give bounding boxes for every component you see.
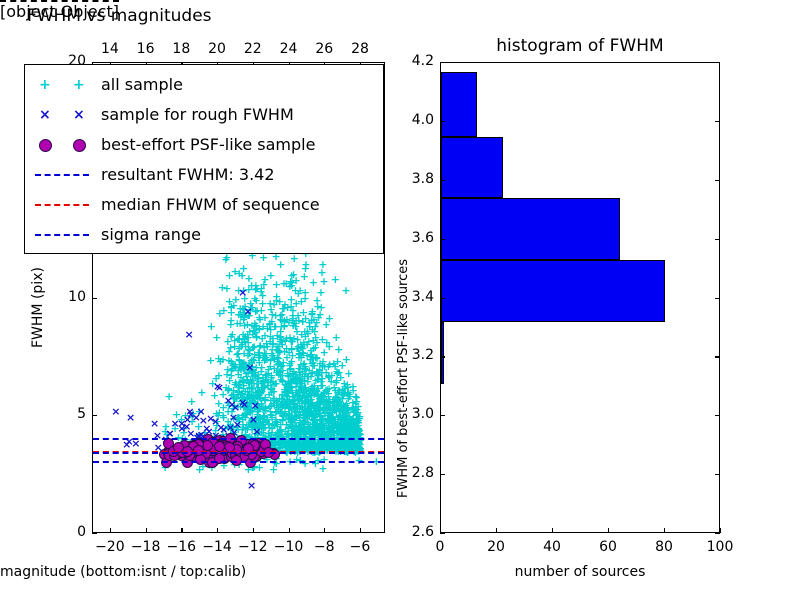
x-tick-label: −14 (199, 539, 235, 555)
scatter-point-rough: × (150, 418, 159, 429)
legend-plus-icon: + (39, 78, 51, 92)
scatter-point-all: + (266, 270, 275, 281)
scatter-point-all: + (267, 316, 276, 327)
right-x-tick-label: 60 (588, 539, 628, 555)
scatter-point-all: + (325, 359, 334, 370)
x-tick-label: −6 (342, 539, 378, 555)
scatter-point-all: + (279, 357, 288, 368)
right-x-tick-mark (664, 528, 665, 533)
left-x-axis-label: magnitude (bottom:isnt / top:calib) (0, 564, 239, 580)
scatter-point-all: + (301, 384, 310, 395)
right-y-tick-mark-right (715, 239, 720, 240)
scatter-point-all: + (276, 259, 285, 270)
scatter-point-all: + (349, 385, 358, 396)
scatter-point-all: + (282, 380, 291, 391)
scatter-point-all: + (332, 396, 341, 407)
scatter-point-all: + (319, 276, 328, 287)
legend-item-4[interactable]: median FHWM of sequence (25, 193, 383, 219)
scatter-point-all: + (214, 398, 223, 409)
top-x-tick-label: 28 (342, 41, 378, 57)
legend-dashed-line-icon (35, 204, 89, 206)
x-tick-mark (360, 528, 361, 533)
x-tick-mark (253, 528, 254, 533)
scatter-point-all: + (318, 463, 327, 474)
histogram-bar (441, 137, 503, 199)
legend-item-label: sample for rough FWHM (101, 105, 294, 124)
scatter-point-all: + (332, 332, 341, 343)
legend-item-2[interactable]: best-effort PSF-like sample (25, 133, 383, 159)
scatter-point-all: + (341, 408, 350, 419)
y-tick-mark (92, 62, 97, 63)
scatter-point-all: + (297, 352, 306, 363)
scatter-point-rough: × (247, 480, 256, 491)
right-y-tick-label: 2.6 (392, 524, 434, 540)
scatter-point-all: + (341, 285, 350, 296)
scatter-point-all: + (307, 400, 316, 411)
histogram-bar (441, 72, 477, 137)
right-x-tick-label: 40 (532, 539, 572, 555)
y-tick-label: 0 (48, 524, 86, 540)
legend-dashed-line-icon (35, 174, 89, 176)
scatter-point-rough: × (126, 412, 135, 423)
top-x-tick-label: 26 (306, 41, 342, 57)
right-y-tick-mark-right (715, 415, 720, 416)
scatter-point-all: + (282, 314, 291, 325)
x-tick-label: −10 (271, 539, 307, 555)
right-panel-title: histogram of FWHM (440, 36, 720, 56)
right-x-tick-label: 0 (420, 539, 460, 555)
right-y-tick-mark (440, 62, 445, 63)
top-x-tick-label: 20 (199, 41, 235, 57)
right-y-tick-mark (440, 180, 445, 181)
histogram-bar (441, 198, 620, 260)
scatter-point-all: + (299, 339, 308, 350)
scatter-point-all: + (268, 344, 277, 355)
scatter-point-all: + (222, 369, 231, 380)
x-tick-mark (110, 528, 111, 533)
scatter-point-all: + (221, 254, 230, 265)
right-y-tick-mark-right (715, 298, 720, 299)
scatter-point-all: + (278, 339, 287, 350)
right-x-tick-label: 80 (644, 539, 684, 555)
legend-item-1[interactable]: ××sample for rough FWHM (25, 103, 383, 129)
scatter-point-all: + (197, 387, 206, 398)
right-x-tick-label: 100 (700, 539, 740, 555)
top-x-tick-label: 16 (128, 41, 164, 57)
scatter-point-all: + (225, 346, 234, 357)
scatter-point-all: + (341, 419, 350, 430)
scatter-point-rough: × (177, 423, 186, 434)
scatter-point-all: + (258, 290, 267, 301)
legend-item-0[interactable]: ++all sample (25, 73, 383, 99)
legend-item-label: all sample (101, 75, 183, 94)
x-tick-mark (217, 528, 218, 533)
sigma-lower-line (93, 461, 384, 463)
x-tick-label: −8 (306, 539, 342, 555)
scatter-point-rough: × (238, 287, 247, 298)
scatter-point-all: + (301, 259, 310, 270)
legend-circle-icon (39, 139, 52, 152)
scatter-point-all: + (350, 418, 359, 429)
right-y-tick-mark (440, 415, 445, 416)
x-tick-mark (181, 528, 182, 533)
scatter-point-all: + (287, 270, 296, 281)
scatter-point-all: + (317, 376, 326, 387)
right-y-tick-mark (440, 474, 445, 475)
right-plot-area (440, 62, 720, 533)
top-x-tick-label: 18 (163, 41, 199, 57)
right-y-tick-mark (440, 356, 445, 357)
scatter-point-rough: × (251, 400, 260, 411)
right-y-tick-mark (440, 239, 445, 240)
legend-box: ++all sample××sample for rough FWHMbest-… (24, 64, 384, 254)
histogram-bar (441, 322, 444, 384)
y-tick-label: 5 (48, 406, 86, 422)
right-y-tick-mark (440, 533, 445, 534)
right-y-tick-mark-right (715, 121, 720, 122)
right-x-axis-label: number of sources (440, 564, 720, 580)
right-y-tick-mark-right (715, 180, 720, 181)
scatter-point-rough: × (215, 382, 224, 393)
legend-plus-icon: + (73, 78, 85, 92)
scatter-point-all: + (235, 333, 244, 344)
resultant-fwhm-line (93, 452, 384, 454)
x-tick-label: −18 (128, 539, 164, 555)
legend-item-5[interactable]: sigma range (25, 223, 383, 249)
scatter-point-all: + (260, 403, 269, 414)
scatter-point-all: + (331, 274, 340, 285)
legend-dashdot-line-icon (35, 234, 89, 236)
legend-item-3[interactable]: resultant FWHM: 3.42 (25, 163, 383, 189)
scatter-point-rough: × (111, 406, 120, 417)
right-y-tick-mark-right (715, 62, 720, 63)
histogram-resultant-line[interactable]: [object Object] (0, 0, 119, 2)
scatter-point-all: + (214, 353, 223, 364)
scatter-point-all: + (264, 368, 273, 379)
scatter-point-all: + (316, 287, 325, 298)
legend-item-label: median FHWM of sequence (101, 195, 320, 214)
right-y-tick-mark (440, 121, 445, 122)
scatter-point-all: + (239, 263, 248, 274)
histogram-bar (441, 260, 665, 322)
right-x-tick-label: 20 (476, 539, 516, 555)
scatter-point-all: + (300, 271, 309, 282)
scatter-point-all: + (252, 378, 261, 389)
legend-cross-icon: × (39, 108, 51, 122)
right-y-axis-label: FWHM of best-effort PSF-like sources (396, 259, 411, 498)
scatter-point-rough: × (199, 415, 208, 426)
top-x-tick-label: 24 (271, 41, 307, 57)
scatter-point-all: + (207, 321, 216, 332)
legend-item-label: resultant FWHM: 3.42 (101, 165, 275, 184)
legend-cross-icon: × (73, 108, 85, 122)
scatter-point-all: + (218, 282, 227, 293)
scatter-point-rough: × (231, 402, 240, 413)
x-tick-mark (324, 528, 325, 533)
x-tick-label: −16 (163, 539, 199, 555)
scatter-point-rough: × (131, 438, 140, 449)
scatter-point-all: + (310, 326, 319, 337)
scatter-point-all: + (239, 383, 248, 394)
scatter-point-all: + (226, 319, 235, 330)
right-y-tick-mark-right (715, 356, 720, 357)
scatter-point-all: + (215, 308, 224, 319)
scatter-point-rough: × (249, 414, 258, 425)
scatter-point-all: + (307, 349, 316, 360)
x-tick-mark (146, 528, 147, 533)
x-tick-label: −12 (235, 539, 271, 555)
scatter-point-all: + (296, 455, 305, 466)
left-y-axis-label: FWHM (pix) (30, 267, 46, 348)
right-y-tick-mark-right (715, 474, 720, 475)
y-tick-mark (92, 533, 97, 534)
y-tick-label: 10 (48, 289, 86, 305)
scatter-point-all: + (288, 369, 297, 380)
right-x-tick-mark (608, 528, 609, 533)
y-tick-mark (92, 298, 97, 299)
scatter-point-all: + (225, 270, 234, 281)
figure-canvas: FWHM vs magnitudes++++++++++++++++++++++… (0, 0, 800, 600)
scatter-point-rough: × (184, 329, 193, 340)
scatter-point-all: + (324, 402, 333, 413)
scatter-point-rough: × (240, 399, 249, 410)
sigma-upper-line (93, 438, 384, 440)
top-x-tick-label: 14 (92, 41, 128, 57)
scatter-point-all: + (271, 378, 280, 389)
right-x-tick-mark (720, 528, 721, 533)
x-tick-label: −20 (92, 539, 128, 555)
scatter-point-all: + (165, 391, 174, 402)
scatter-point-all: + (294, 288, 303, 299)
legend-item-label: best-effort PSF-like sample (101, 135, 315, 154)
x-tick-mark (289, 528, 290, 533)
right-y-tick-mark (440, 298, 445, 299)
right-y-tick-label: 4.2 (392, 53, 434, 69)
right-y-tick-label: 4.0 (392, 112, 434, 128)
legend-circle-icon (73, 139, 86, 152)
top-x-tick-label: 22 (235, 41, 271, 57)
right-y-tick-label: 3.8 (392, 171, 434, 187)
scatter-point-all: + (318, 259, 327, 270)
scatter-point-rough: × (245, 362, 254, 373)
right-y-tick-mark-right (715, 533, 720, 534)
scatter-point-all: + (320, 347, 329, 358)
scatter-point-all: + (288, 413, 297, 424)
y-tick-mark (92, 415, 97, 416)
scatter-point-all: + (298, 373, 307, 384)
right-x-tick-mark (552, 528, 553, 533)
right-y-tick-label: 3.6 (392, 230, 434, 246)
scatter-point-rough: × (252, 426, 261, 437)
right-x-tick-mark (496, 528, 497, 533)
scatter-point-all: + (290, 253, 299, 264)
legend-item-label: sigma range (101, 225, 201, 244)
scatter-point-all: + (212, 332, 221, 343)
scatter-point-all: + (342, 354, 351, 365)
scatter-point-all: + (325, 423, 334, 434)
scatter-point-all: + (249, 325, 258, 336)
scatter-point-rough: × (243, 306, 252, 317)
scatter-point-all: + (267, 304, 276, 315)
scatter-point-rough: × (233, 419, 242, 430)
